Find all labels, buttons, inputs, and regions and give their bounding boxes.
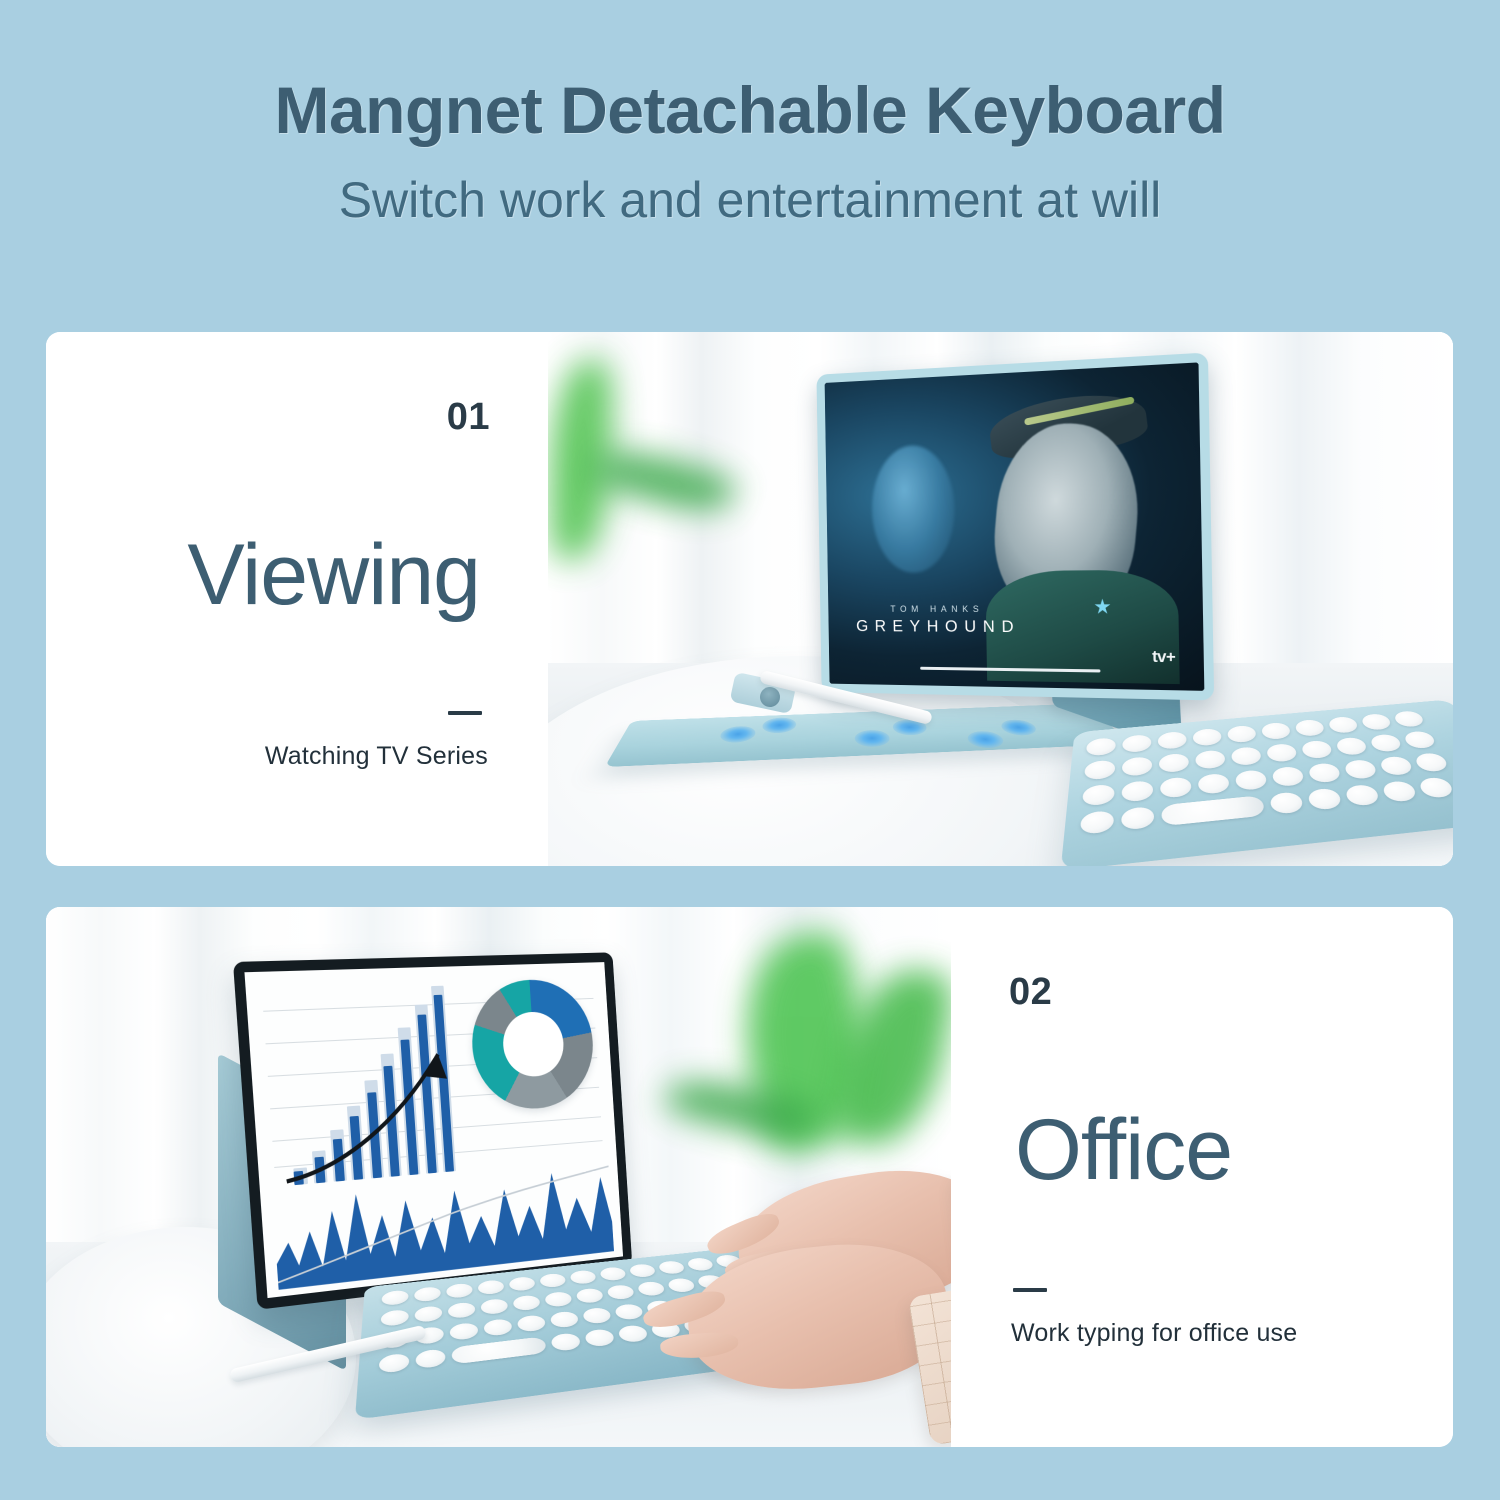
magnet-indicator-dot [854,729,892,747]
keycap[interactable] [616,1324,650,1343]
keycap[interactable] [1121,806,1154,830]
keycap[interactable] [1360,713,1394,731]
tv-plus-label: tv+ [1152,648,1176,667]
keycap[interactable] [1380,780,1418,802]
keycap[interactable] [1413,752,1450,772]
keycap[interactable] [1307,762,1342,783]
keycap[interactable] [1378,756,1415,777]
keycap[interactable] [483,1318,513,1337]
keycap[interactable] [381,1309,409,1327]
movie-starring: TOM HANKS [856,604,1020,614]
porthole-window [871,444,955,573]
keycap[interactable] [1122,756,1152,777]
card-text-panel: 02 Office Work typing for office use [951,907,1453,1447]
tablet-assembly [218,947,938,1417]
magnet-indicator-dot [998,719,1041,736]
keycap[interactable] [477,1279,505,1295]
magnet-indicator-dot [718,726,756,744]
tablet-screen[interactable] [233,952,632,1309]
keycap[interactable] [381,1289,408,1306]
feature-card-office[interactable]: 02 Office Work typing for office use [46,907,1453,1447]
keycap[interactable] [512,1294,542,1311]
keycap[interactable] [1306,788,1343,811]
keycap[interactable] [1230,746,1262,766]
keycap[interactable] [1122,780,1154,802]
keycap[interactable] [583,1328,616,1347]
keycap[interactable] [549,1310,580,1328]
keycap[interactable] [414,1286,441,1302]
keycap[interactable] [1343,759,1379,780]
keycap[interactable] [1300,740,1334,759]
keycap[interactable] [1160,776,1192,798]
keycap[interactable] [416,1348,446,1369]
keycap[interactable] [685,1257,716,1272]
movie-title-block: TOM HANKS GREYHOUND [856,604,1021,637]
keycap[interactable] [1226,725,1257,743]
keycap[interactable] [448,1302,477,1319]
card-caption: Watching TV Series [46,742,488,771]
keycap[interactable] [415,1305,443,1323]
card-title: Viewing [46,532,480,618]
keycap[interactable] [508,1276,536,1292]
divider-dash [1013,1279,1453,1297]
keycap[interactable] [446,1283,473,1299]
keycap[interactable] [1392,710,1426,727]
keycap[interactable] [1192,728,1222,747]
card-caption: Work typing for office use [1011,1319,1453,1348]
keycap[interactable] [613,1303,645,1321]
keycap[interactable] [1082,784,1115,807]
keycap[interactable] [1402,730,1438,749]
keycap[interactable] [1086,737,1116,756]
tablet-screen[interactable]: TOM HANKS GREYHOUND tv+ [816,352,1214,700]
card-number: 01 [46,398,490,436]
keycap[interactable] [575,1287,605,1304]
divider-dash [46,702,482,720]
keycap[interactable] [636,1281,667,1297]
magnet-indicator-dot [761,717,796,734]
card-photo-office [46,907,951,1447]
keycap[interactable] [1269,791,1305,814]
keycap[interactable] [581,1307,613,1325]
dash-mark [1013,1288,1047,1292]
keycap[interactable] [1159,753,1190,773]
page-title: Mangnet Detachable Keyboard [0,74,1500,147]
feature-card-viewing[interactable]: 01 Viewing Watching TV Series [46,332,1453,866]
keycap[interactable] [516,1314,547,1332]
card-text-panel: 01 Viewing Watching TV Series [46,332,548,866]
keycap[interactable] [605,1284,636,1300]
magnet-indicator-dot [964,731,1007,749]
keycap[interactable] [1334,737,1368,756]
keycap[interactable] [1294,719,1326,737]
spacebar-key[interactable] [451,1336,547,1364]
dash-mark [448,711,482,715]
keycap[interactable] [1271,766,1306,787]
keycap[interactable] [1158,731,1188,750]
keycap[interactable] [1122,734,1151,753]
keycap[interactable] [550,1332,583,1352]
dashboard-canvas [244,962,623,1298]
card-title: Office [1015,1107,1453,1193]
keycap[interactable] [379,1353,409,1374]
keycap[interactable] [628,1263,658,1278]
page-header: Mangnet Detachable Keyboard Switch work … [0,0,1500,228]
keycap[interactable] [1265,743,1298,763]
donut-chart [468,977,597,1112]
keycap[interactable] [569,1269,598,1284]
keycap[interactable] [1084,760,1115,781]
keycap[interactable] [480,1298,509,1315]
card-photo-viewing: TOM HANKS GREYHOUND tv+ [548,332,1453,866]
keycap[interactable] [1195,749,1227,769]
keycap[interactable] [666,1277,698,1293]
keycap[interactable] [1197,773,1230,795]
keycap[interactable] [1327,716,1360,734]
keycap[interactable] [539,1273,568,1289]
keycap[interactable] [598,1266,628,1281]
keycap[interactable] [1234,769,1268,791]
apple-tv-plus-badge: tv+ [1150,648,1176,667]
keycap[interactable] [544,1291,574,1308]
card-number: 02 [1009,973,1453,1011]
movie-title: GREYHOUND [856,616,1021,637]
page-subtitle: Switch work and entertainment at will [0,173,1500,228]
keycap[interactable] [449,1322,479,1341]
keycap[interactable] [1080,810,1114,835]
keycap[interactable] [1260,722,1292,740]
keycap[interactable] [1344,784,1382,807]
keycap[interactable] [1417,777,1453,799]
movie-frame: TOM HANKS GREYHOUND tv+ [825,362,1205,690]
spacebar-key[interactable] [1161,795,1266,826]
keycap[interactable] [657,1260,687,1275]
keycap[interactable] [1368,733,1403,752]
